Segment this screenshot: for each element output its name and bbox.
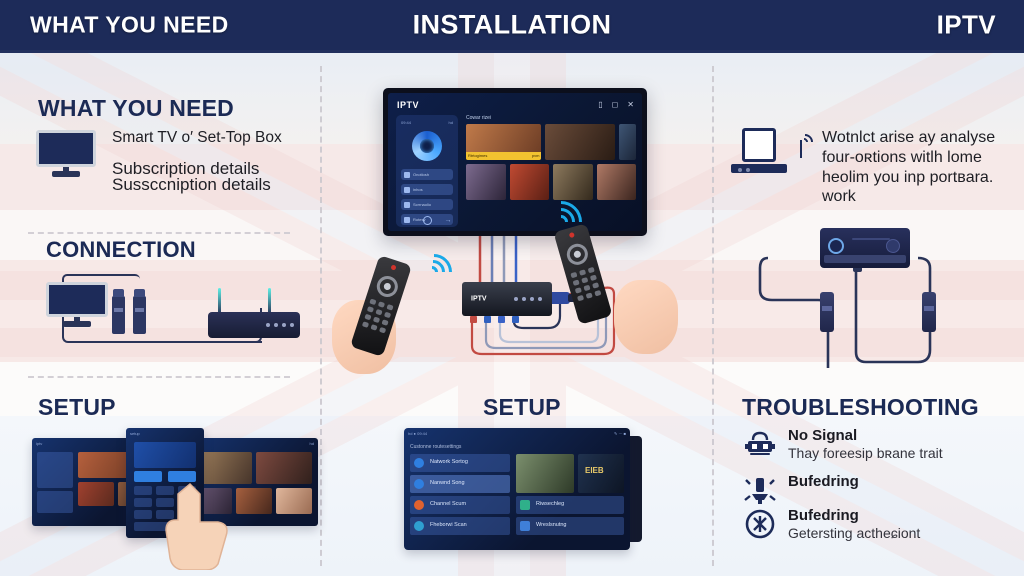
what-you-need-heading: WHAT YOU NEED (38, 95, 234, 122)
tv-menu-label: Scrrnaolio (413, 202, 431, 207)
tv-thumbnail[interactable] (545, 124, 615, 160)
main-tv-screen: IPTV ▯ ◻ ✕ 09:44 hd Onotlosh inhos (383, 88, 647, 236)
setup-screen-title: Custonne routesettings (410, 444, 461, 450)
receiver-cables (740, 250, 990, 375)
av-port-blue (512, 316, 519, 323)
screen-status-left: iptv (36, 441, 42, 446)
tv-thumbnail[interactable] (619, 124, 636, 160)
home-circle-icon[interactable] (423, 216, 432, 225)
person-icon (520, 521, 530, 531)
wifi-signal-icon (424, 250, 468, 284)
troubleshooting-item-0: No Signal Thay foreesip bʀane trait (744, 428, 1004, 461)
tv-content-label: Cowar rizei (466, 115, 636, 121)
thumbnail-caption: Rtrtogimes (468, 153, 487, 158)
television-icon (36, 130, 96, 176)
troubleshooting-subtitle: Getersting actheɕiont (788, 525, 920, 541)
setup-screen-icons: ✎ ⋯ ■ (614, 431, 626, 436)
setup-menu-label: Nanwnd Song (430, 480, 465, 486)
television-icon (46, 282, 108, 326)
tv-menu-item-1[interactable]: inhos (401, 184, 453, 195)
column-divider-left (320, 66, 322, 566)
setup-config-screen: hd ● 09:44 ✎ ⋯ ■ Custonne routesettings … (404, 428, 630, 550)
intro-line-3: work (822, 187, 995, 207)
intro-line-0: Wotnlct arise ay analyse (822, 128, 995, 148)
x-circle-icon (744, 508, 776, 540)
setup-menu-label: Wreslsnutng (536, 522, 566, 528)
setup-screen-edge (628, 436, 642, 542)
av-port-blue (498, 316, 505, 323)
troubleshooting-title: No Signal (788, 428, 943, 445)
cable-plug-icon (820, 292, 834, 332)
setup-preview-photo (516, 454, 574, 493)
tv-status-quality: hd (449, 120, 453, 125)
receiver-knob (886, 239, 900, 253)
hdmi-cable-icon (133, 296, 146, 334)
tv-thumbnail[interactable] (597, 164, 637, 200)
screen-status-right: hd (310, 441, 314, 446)
section-divider (28, 376, 290, 378)
troubleshooting-item-2: Bufedring Getersting actheɕiont (744, 508, 1004, 541)
av-port-blue (484, 316, 491, 323)
burst-lamp-icon (744, 474, 776, 506)
tv-sidebar: 09:44 hd Onotlosh inhos Scrrnaolio (396, 115, 458, 227)
close-icon[interactable]: ✕ (627, 100, 634, 109)
header-title-right: IPTV (937, 10, 996, 41)
troubleshooting-title: Bufedring (788, 508, 920, 525)
grid-icon (404, 202, 410, 208)
intro-line-1: four-oʀtions witlh lome (822, 148, 995, 168)
tv-thumbnail-featured[interactable]: Rtrtogimes pvm (466, 124, 541, 160)
av-port-red (470, 316, 477, 323)
pointing-hand-icon (160, 478, 232, 570)
section-divider (28, 232, 290, 234)
setup-menu-item-0[interactable]: Natwork Sortog (410, 454, 510, 472)
tv-menu-label: Onotlosh (413, 172, 429, 177)
preview-badge: EIEB (585, 466, 604, 475)
column-divider-right (712, 66, 714, 566)
setup-preview-photo: EIEB (578, 454, 624, 493)
tv-brand-label: IPTV (397, 100, 419, 110)
setup-heading-left: SETUP (38, 394, 116, 421)
tv-icon (520, 500, 530, 510)
antenna-icon (268, 288, 271, 314)
laptop-router-icon (742, 128, 787, 173)
page-header: WHAT YOU NEED INSTALLATION IPTV (0, 0, 1024, 52)
cable-plug-icon (922, 292, 936, 332)
setup-menu-item-2[interactable]: Channel Scum (410, 496, 510, 514)
forward-arrow-icon[interactable]: → (445, 217, 452, 224)
setup-menu-item-5[interactable]: Wreslsnutng (516, 517, 624, 535)
setup-screen-status: hd ● 09:44 (408, 431, 427, 436)
header-title-center: INSTALLATION (413, 10, 612, 41)
setup-menu-label: Channel Scum (430, 501, 466, 507)
wifi-signal-icon (540, 195, 600, 231)
tv-status-time: 09:44 (401, 120, 411, 125)
troubleshooting-subtitle: Thay foreesip bʀane trait (788, 445, 943, 461)
setup-menu-item-3[interactable]: Fheborwi Scan (410, 517, 510, 535)
setup-heading-center: SETUP (483, 394, 561, 421)
tv-menu-item-2[interactable]: Scrrnaolio (401, 199, 453, 210)
wifi-router-icon (208, 312, 300, 338)
thumbnail-meta: pvm (532, 153, 540, 158)
setup-menu-item-1[interactable]: Nanwnd Song (410, 475, 510, 493)
maximize-icon[interactable]: ◻ (612, 100, 619, 109)
troubleshooting-heading: TROUBLESHOOTING (742, 394, 979, 421)
troubleshooting-item-1: Bufedring (744, 474, 1004, 506)
intro-line-2: heolim you inp portʙara. (822, 168, 995, 188)
tv-window-controls[interactable]: ▯ ◻ ✕ (598, 100, 634, 109)
setup-menu-label: Fheborwi Scan (430, 522, 467, 528)
wifi-signal-icon (796, 128, 818, 150)
troubleshooting-title: Bufedring (788, 474, 859, 491)
av-receiver-icon (820, 228, 910, 268)
set-top-box: IPTV (462, 282, 552, 316)
video-icon (404, 187, 410, 193)
receiver-dial (828, 238, 844, 254)
network-icon (414, 479, 424, 489)
minimize-icon[interactable]: ▯ (598, 100, 602, 109)
hand-holding-remote-right (596, 272, 692, 376)
setup-menu-label: Natwork Sortog (430, 459, 468, 465)
header-title-left: WHAT YOU NEED (30, 12, 229, 39)
set-top-box-icon (744, 428, 776, 460)
antenna-icon (218, 288, 221, 314)
tv-menu-item-0[interactable]: Onotlosh (401, 169, 453, 180)
right-intro-text: Wotnlct arise ay analyse four-oʀtions wi… (822, 128, 995, 207)
hdmi-cable-icon (112, 296, 125, 334)
back-arrow-icon[interactable]: ← (403, 217, 410, 224)
need-item-0: Smart TV o′ Set-Top Box (112, 129, 282, 147)
set-top-box-label: IPTV (471, 296, 487, 303)
home-icon (404, 172, 410, 178)
search-icon (414, 521, 424, 531)
globe-icon (414, 458, 424, 468)
tv-nav-bar[interactable]: ← → (396, 216, 458, 225)
tv-thumbnail[interactable] (466, 164, 506, 200)
setup-menu-item-4[interactable]: Riwsechleg (516, 496, 624, 514)
iptv-orb-icon (412, 131, 442, 161)
tv-menu-label: inhos (413, 187, 423, 192)
need-item-2: Sussccniption details (112, 175, 271, 195)
connection-diagram (0, 260, 320, 370)
connection-heading: CONNECTION (46, 237, 196, 263)
setup-menu-label: Riwsechleg (536, 501, 564, 507)
screen-status-center: setup (130, 431, 140, 436)
location-icon (414, 500, 424, 510)
